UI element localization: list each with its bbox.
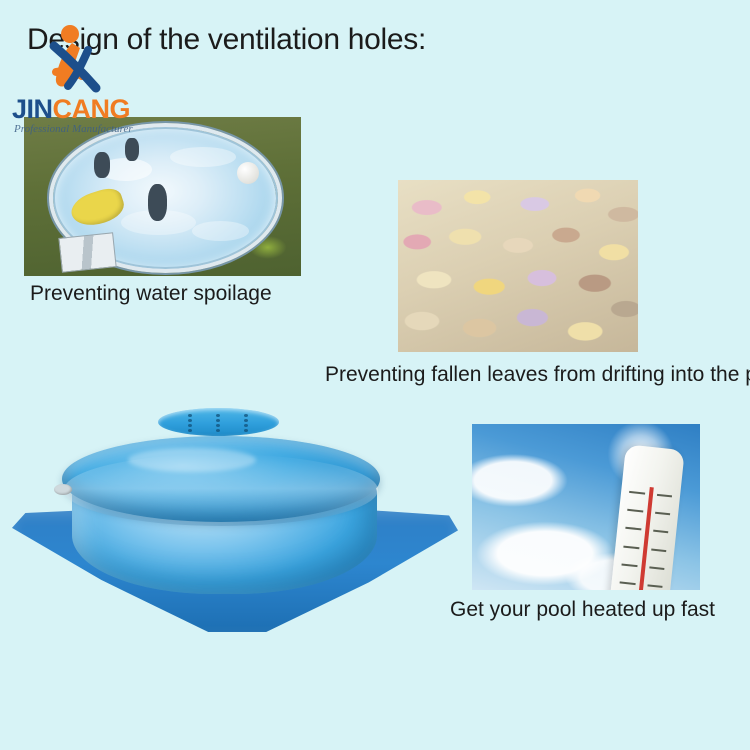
thermometer-mercury <box>638 487 654 590</box>
brand-tagline: Professional Manufacturer <box>14 123 133 136</box>
brand-word-cang: CANG <box>53 94 131 124</box>
pool-cover-highlight <box>128 448 256 472</box>
thermometer-icon <box>610 445 685 590</box>
caption-pool-aerial: Preventing water spoilage <box>30 281 272 307</box>
running-figure-logo-icon <box>42 24 108 96</box>
vent-hole-group <box>244 414 248 430</box>
ventilation-holes-detail-disc <box>158 408 279 436</box>
vent-hole-group <box>188 414 192 430</box>
photo-fallen-leaves <box>398 180 638 352</box>
photo-pool-aerial <box>24 117 301 276</box>
brand-word-jin: JIN <box>12 94 53 124</box>
inflation-valve-icon <box>54 484 72 495</box>
caption-thermometer: Get your pool heated up fast <box>450 597 715 623</box>
beach-ball-icon <box>237 162 259 184</box>
brand-wordmark: JINCANG <box>12 94 130 124</box>
product-illustration-pool-cover <box>0 400 470 650</box>
photo-thermometer-sky <box>472 424 700 590</box>
caption-fallen-leaves: Preventing fallen leaves from drifting i… <box>325 362 750 388</box>
pool-ladder-icon <box>58 232 117 273</box>
vent-hole-group <box>216 414 220 430</box>
brand-logo: JINCANG Professional Manufacturer <box>8 24 158 139</box>
